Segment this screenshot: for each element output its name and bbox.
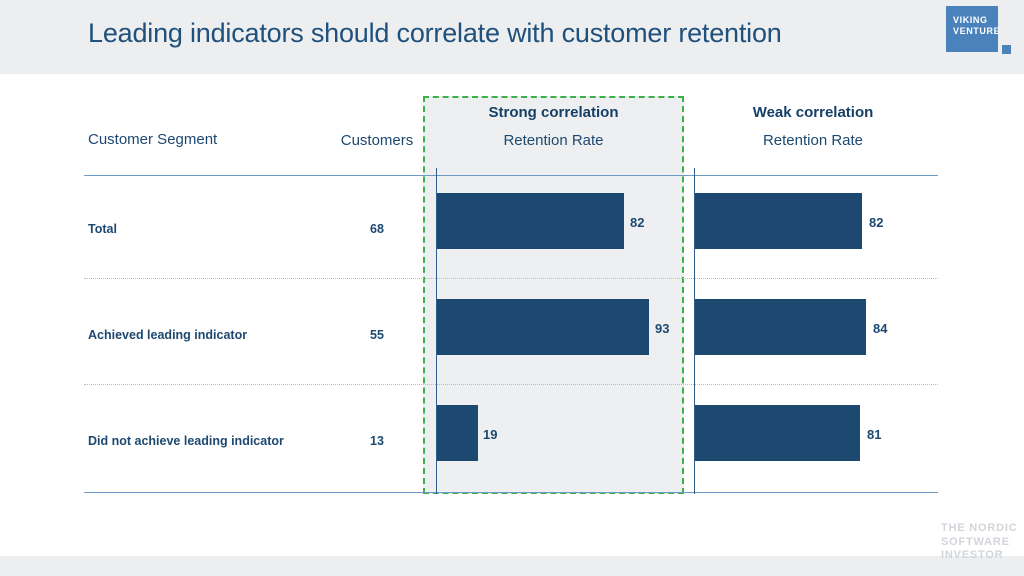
header-weak-correlation-subtitle: Retention Rate (693, 132, 933, 149)
bar-value-weak-row-3: 81 (867, 427, 881, 442)
header-strong-correlation-subtitle: Retention Rate (424, 132, 683, 149)
nordic-software-investor-watermark: THE NORDIC SOFTWARE INVESTOR (941, 522, 1017, 563)
bar-strong-row-3 (437, 405, 478, 461)
table-header-rule (84, 175, 938, 176)
logo-line-1: VIKING (953, 15, 1000, 26)
table-row: Total (88, 222, 117, 236)
bar-value-strong-row-3: 19 (483, 427, 497, 442)
row-customer-count: 68 (336, 222, 418, 236)
footer-band (0, 556, 1024, 576)
watermark-line-3: INVESTOR (941, 549, 1017, 563)
bar-weak-row-2 (695, 299, 866, 355)
header-weak-correlation: Weak correlation Retention Rate (693, 104, 933, 149)
header-weak-correlation-title: Weak correlation (693, 104, 933, 121)
logo-text: VIKING VENTURE (953, 15, 1000, 37)
slide-canvas: Leading indicators should correlate with… (0, 0, 1024, 576)
row-separator-1 (84, 278, 938, 279)
logo-accent-square-icon (1002, 45, 1011, 54)
table-bottom-rule (84, 492, 938, 493)
page-title: Leading indicators should correlate with… (88, 18, 782, 49)
bar-strong-row-2 (437, 299, 649, 355)
bar-weak-row-1 (695, 193, 862, 249)
header-customers: Customers (336, 131, 418, 151)
row-customer-count: 55 (336, 328, 418, 342)
viking-venture-logo: VIKING VENTURE (946, 6, 1012, 66)
bar-weak-row-3 (695, 405, 860, 461)
watermark-line-1: THE NORDIC (941, 522, 1017, 536)
header-customer-segment: Customer Segment (88, 131, 217, 148)
logo-line-2: VENTURE (953, 26, 1000, 37)
header-strong-correlation: Strong correlation Retention Rate (424, 104, 683, 149)
bar-value-strong-row-1: 82 (630, 215, 644, 230)
table-row: Achieved leading indicator (88, 328, 247, 342)
bar-strong-row-1 (437, 193, 624, 249)
bar-value-weak-row-2: 84 (873, 321, 887, 336)
bar-value-strong-row-2: 93 (655, 321, 669, 336)
bar-value-weak-row-1: 82 (869, 215, 883, 230)
row-customer-count: 13 (336, 434, 418, 448)
table-row: Did not achieve leading indicator (88, 434, 284, 448)
row-separator-2 (84, 384, 938, 385)
header-strong-correlation-title: Strong correlation (424, 104, 683, 121)
watermark-line-2: SOFTWARE (941, 536, 1017, 550)
